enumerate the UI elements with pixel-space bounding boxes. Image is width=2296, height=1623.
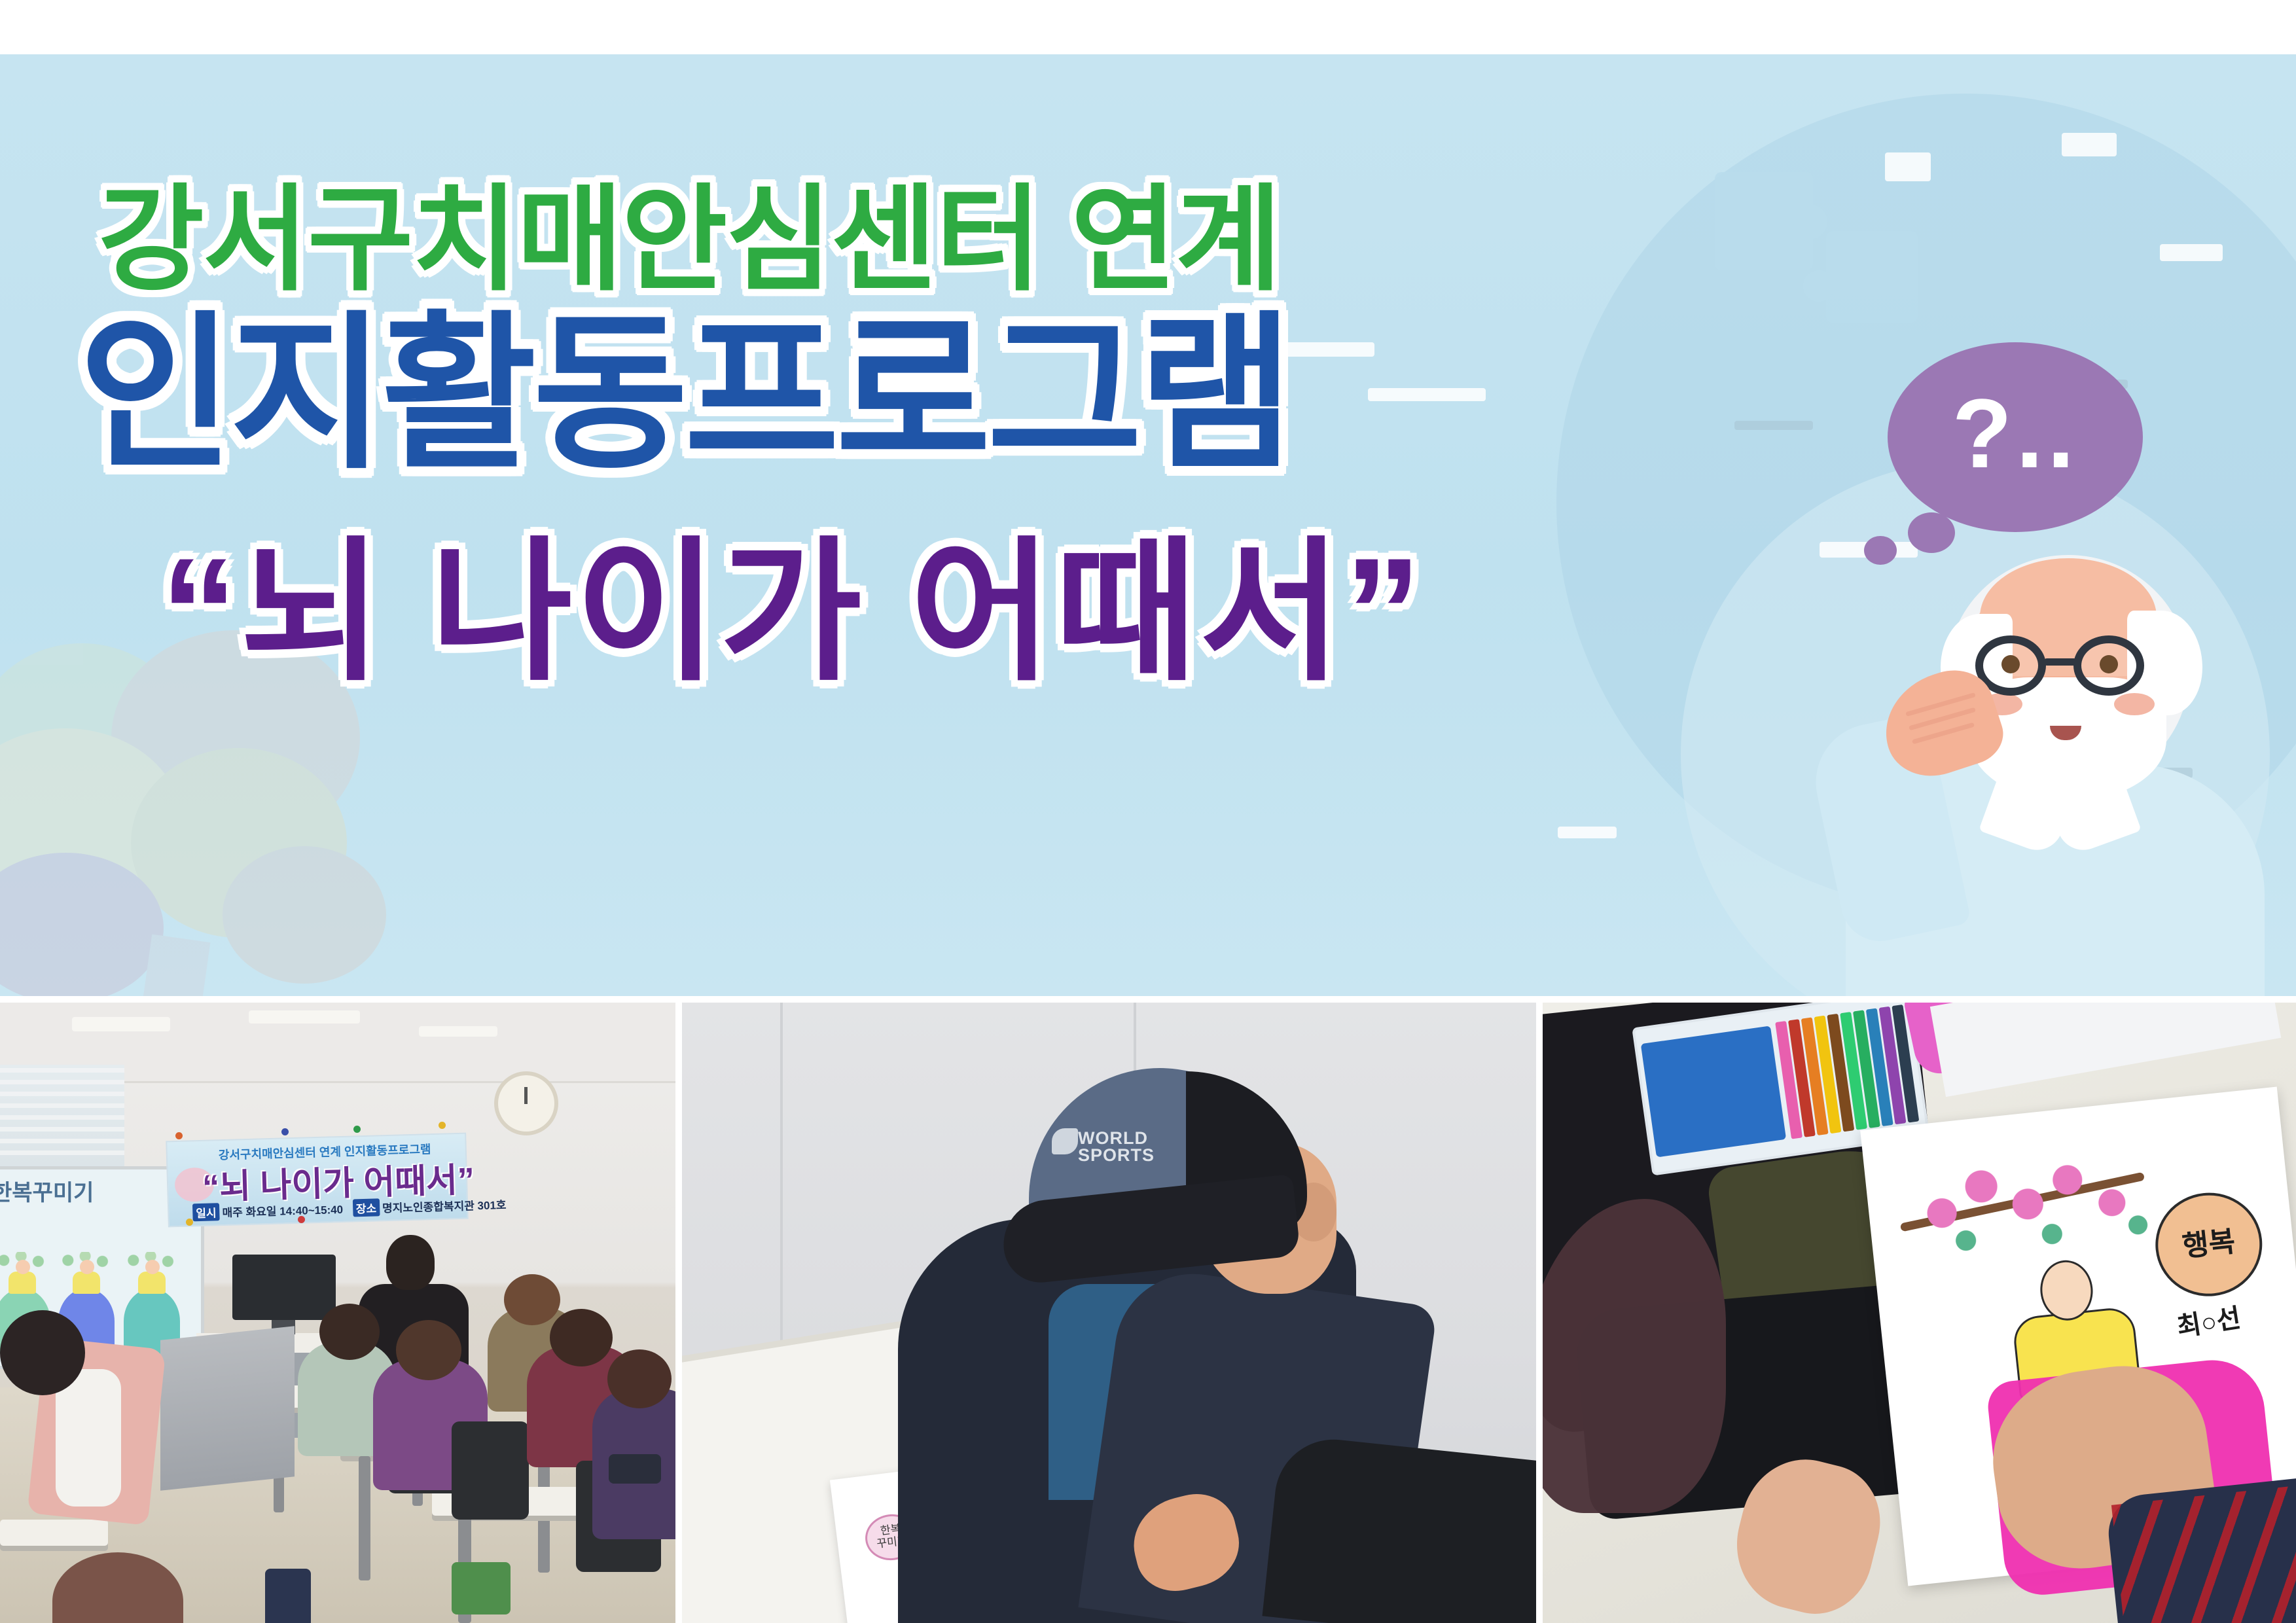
banner-pin: [175, 1132, 183, 1139]
projector-screen-title: 한복꾸미기: [0, 1175, 94, 1207]
headline-line-3: “뇌 나이가 어때서”: [160, 486, 1424, 710]
photo-hanbok-coloring-artwork: 행복 최○선: [1543, 1003, 2296, 1623]
artwork-circle-text: 행복: [2153, 1190, 2265, 1298]
banner-pin: [439, 1122, 446, 1129]
cap-logo-icon: [1052, 1128, 1078, 1154]
cap-logo-line-2: SPORTS: [1078, 1147, 1155, 1164]
banner-pin: [353, 1126, 361, 1133]
headline-line-2: 인지활동프로그램: [79, 257, 1290, 501]
wall-clock-icon: [494, 1071, 558, 1135]
photo-strip: 한복꾸미기 강서구치매안심센터 연계 인지활동프로그램 “뇌 나이가 어때서” …: [0, 1003, 2296, 1623]
banner-pin: [298, 1216, 305, 1223]
banner-time-value: 매주 화요일 14:40~15:40: [222, 1204, 343, 1219]
headline-block: 강서구치매안심센터 연계 인지활동프로그램 “뇌 나이가 어때서”: [0, 54, 2296, 996]
photo-participant-folding-fan: 한복꾸미기 WORLD SPORTS: [682, 1003, 1536, 1623]
banner-pin: [186, 1219, 193, 1226]
plaid-sleeve: [2111, 1482, 2296, 1623]
artwork-circle: 행복: [2150, 1188, 2267, 1302]
photo-classroom-session: 한복꾸미기 강서구치매안심센터 연계 인지활동프로그램 “뇌 나이가 어때서” …: [0, 1003, 675, 1623]
baseball-cap: WORLD SPORTS: [990, 1068, 1317, 1264]
banner-time-label: 일시: [192, 1203, 220, 1221]
top-white-strip: [0, 0, 2296, 54]
cap-logo-text: WORLD SPORTS: [1078, 1130, 1155, 1164]
banner-pin: [281, 1128, 289, 1135]
banner-place-value: 명지노인종합복지관 301호: [382, 1199, 507, 1215]
wall-banner: 강서구치매안심센터 연계 인지활동프로그램 “뇌 나이가 어때서” 일시매주 화…: [166, 1133, 469, 1228]
cap-logo-line-1: WORLD: [1078, 1130, 1155, 1147]
poster-page: ?.. 강서구치매안심센터 연계 인지활동프로그램: [0, 0, 2296, 1623]
blossom-branch-drawing: [1900, 1135, 2174, 1287]
banner-place-label: 장소: [352, 1198, 380, 1217]
artwork-signature: 최○선: [2174, 1296, 2243, 1344]
